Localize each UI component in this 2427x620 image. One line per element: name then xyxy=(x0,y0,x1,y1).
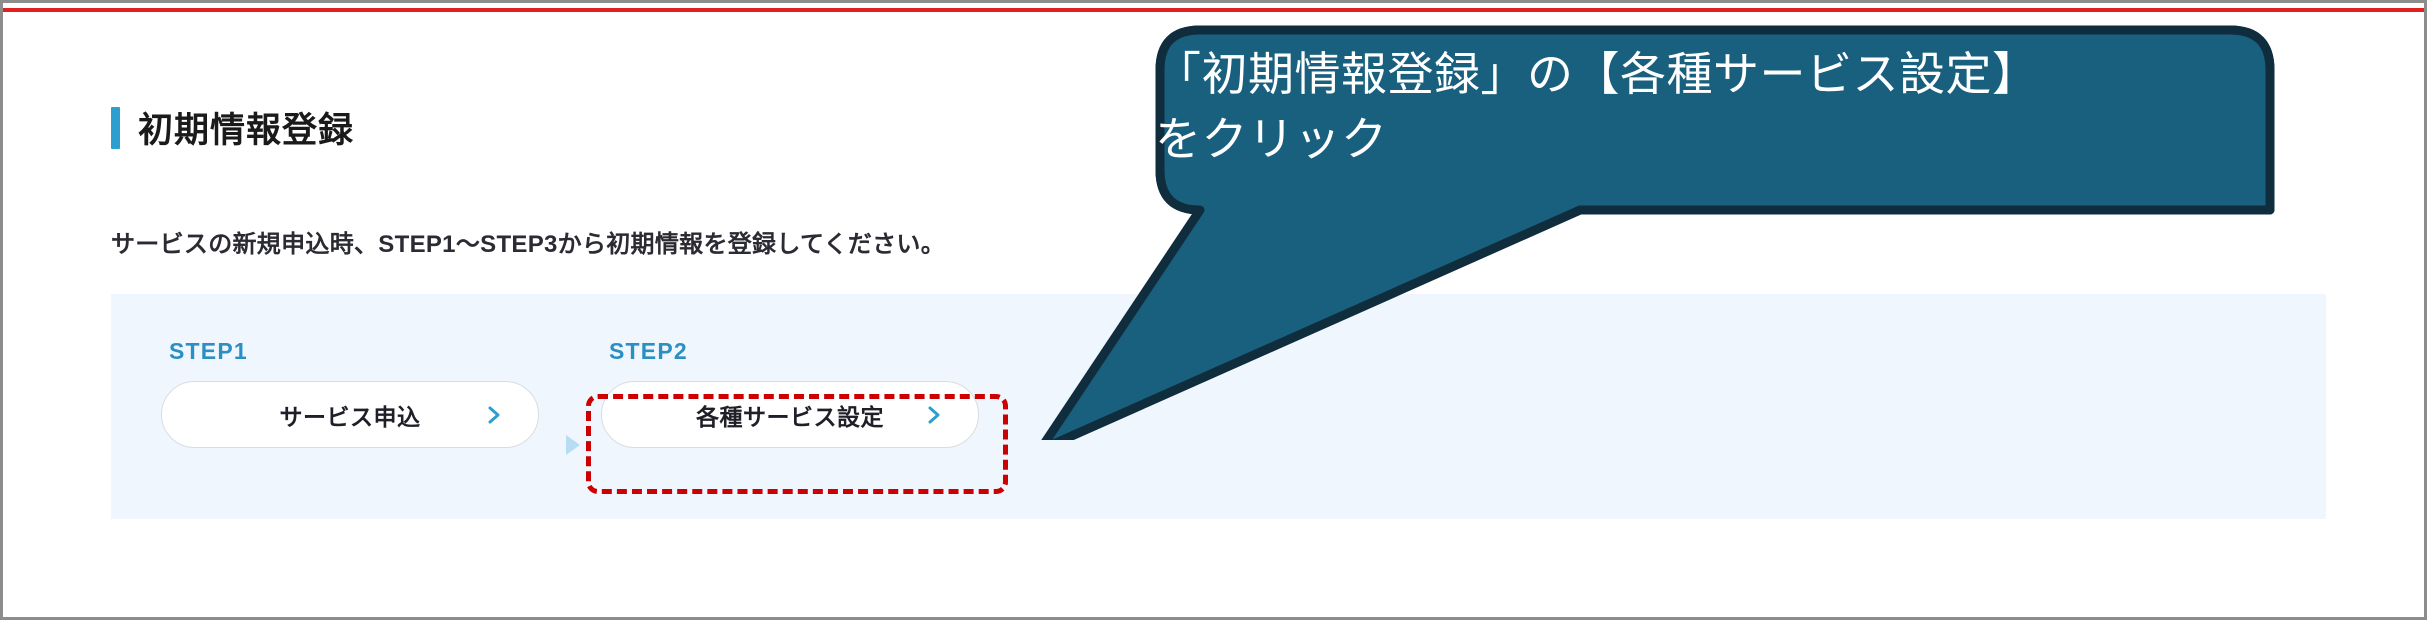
triangle-right-icon xyxy=(566,435,580,455)
callout-text: 「初期情報登録」の【各種サービス設定】 をクリック xyxy=(1155,42,2265,173)
step-group-1: STEP1 サービス申込 xyxy=(161,338,539,448)
step-group-2: STEP2 各種サービス設定 xyxy=(601,338,979,448)
callout-line-2: をクリック xyxy=(1155,107,2265,172)
page-description: サービスの新規申込時、STEP1〜STEP3から初期情報を登録してください。 xyxy=(111,224,945,259)
top-red-rule xyxy=(3,8,2424,12)
steps-panel: STEP1 サービス申込 STEP2 各種サービス設定 xyxy=(111,294,2326,519)
page-title-text: 初期情報登録 xyxy=(138,102,354,153)
step-button-service-settings[interactable]: 各種サービス設定 xyxy=(601,381,979,448)
step-label-2: STEP2 xyxy=(601,338,979,365)
screenshot-frame: 初期情報登録 サービスの新規申込時、STEP1〜STEP3から初期情報を登録して… xyxy=(0,0,2427,620)
step-label-1: STEP1 xyxy=(161,338,539,365)
heading-accent-bar xyxy=(111,107,120,149)
step-button-label-2: 各種サービス設定 xyxy=(696,398,884,432)
page-title: 初期情報登録 xyxy=(111,102,354,153)
callout-line-1: 「初期情報登録」の【各種サービス設定】 xyxy=(1155,42,2265,107)
step-button-label-1: サービス申込 xyxy=(280,398,421,432)
chevron-right-icon xyxy=(484,405,504,425)
chevron-right-icon xyxy=(924,405,944,425)
step-button-service-application[interactable]: サービス申込 xyxy=(161,381,539,448)
